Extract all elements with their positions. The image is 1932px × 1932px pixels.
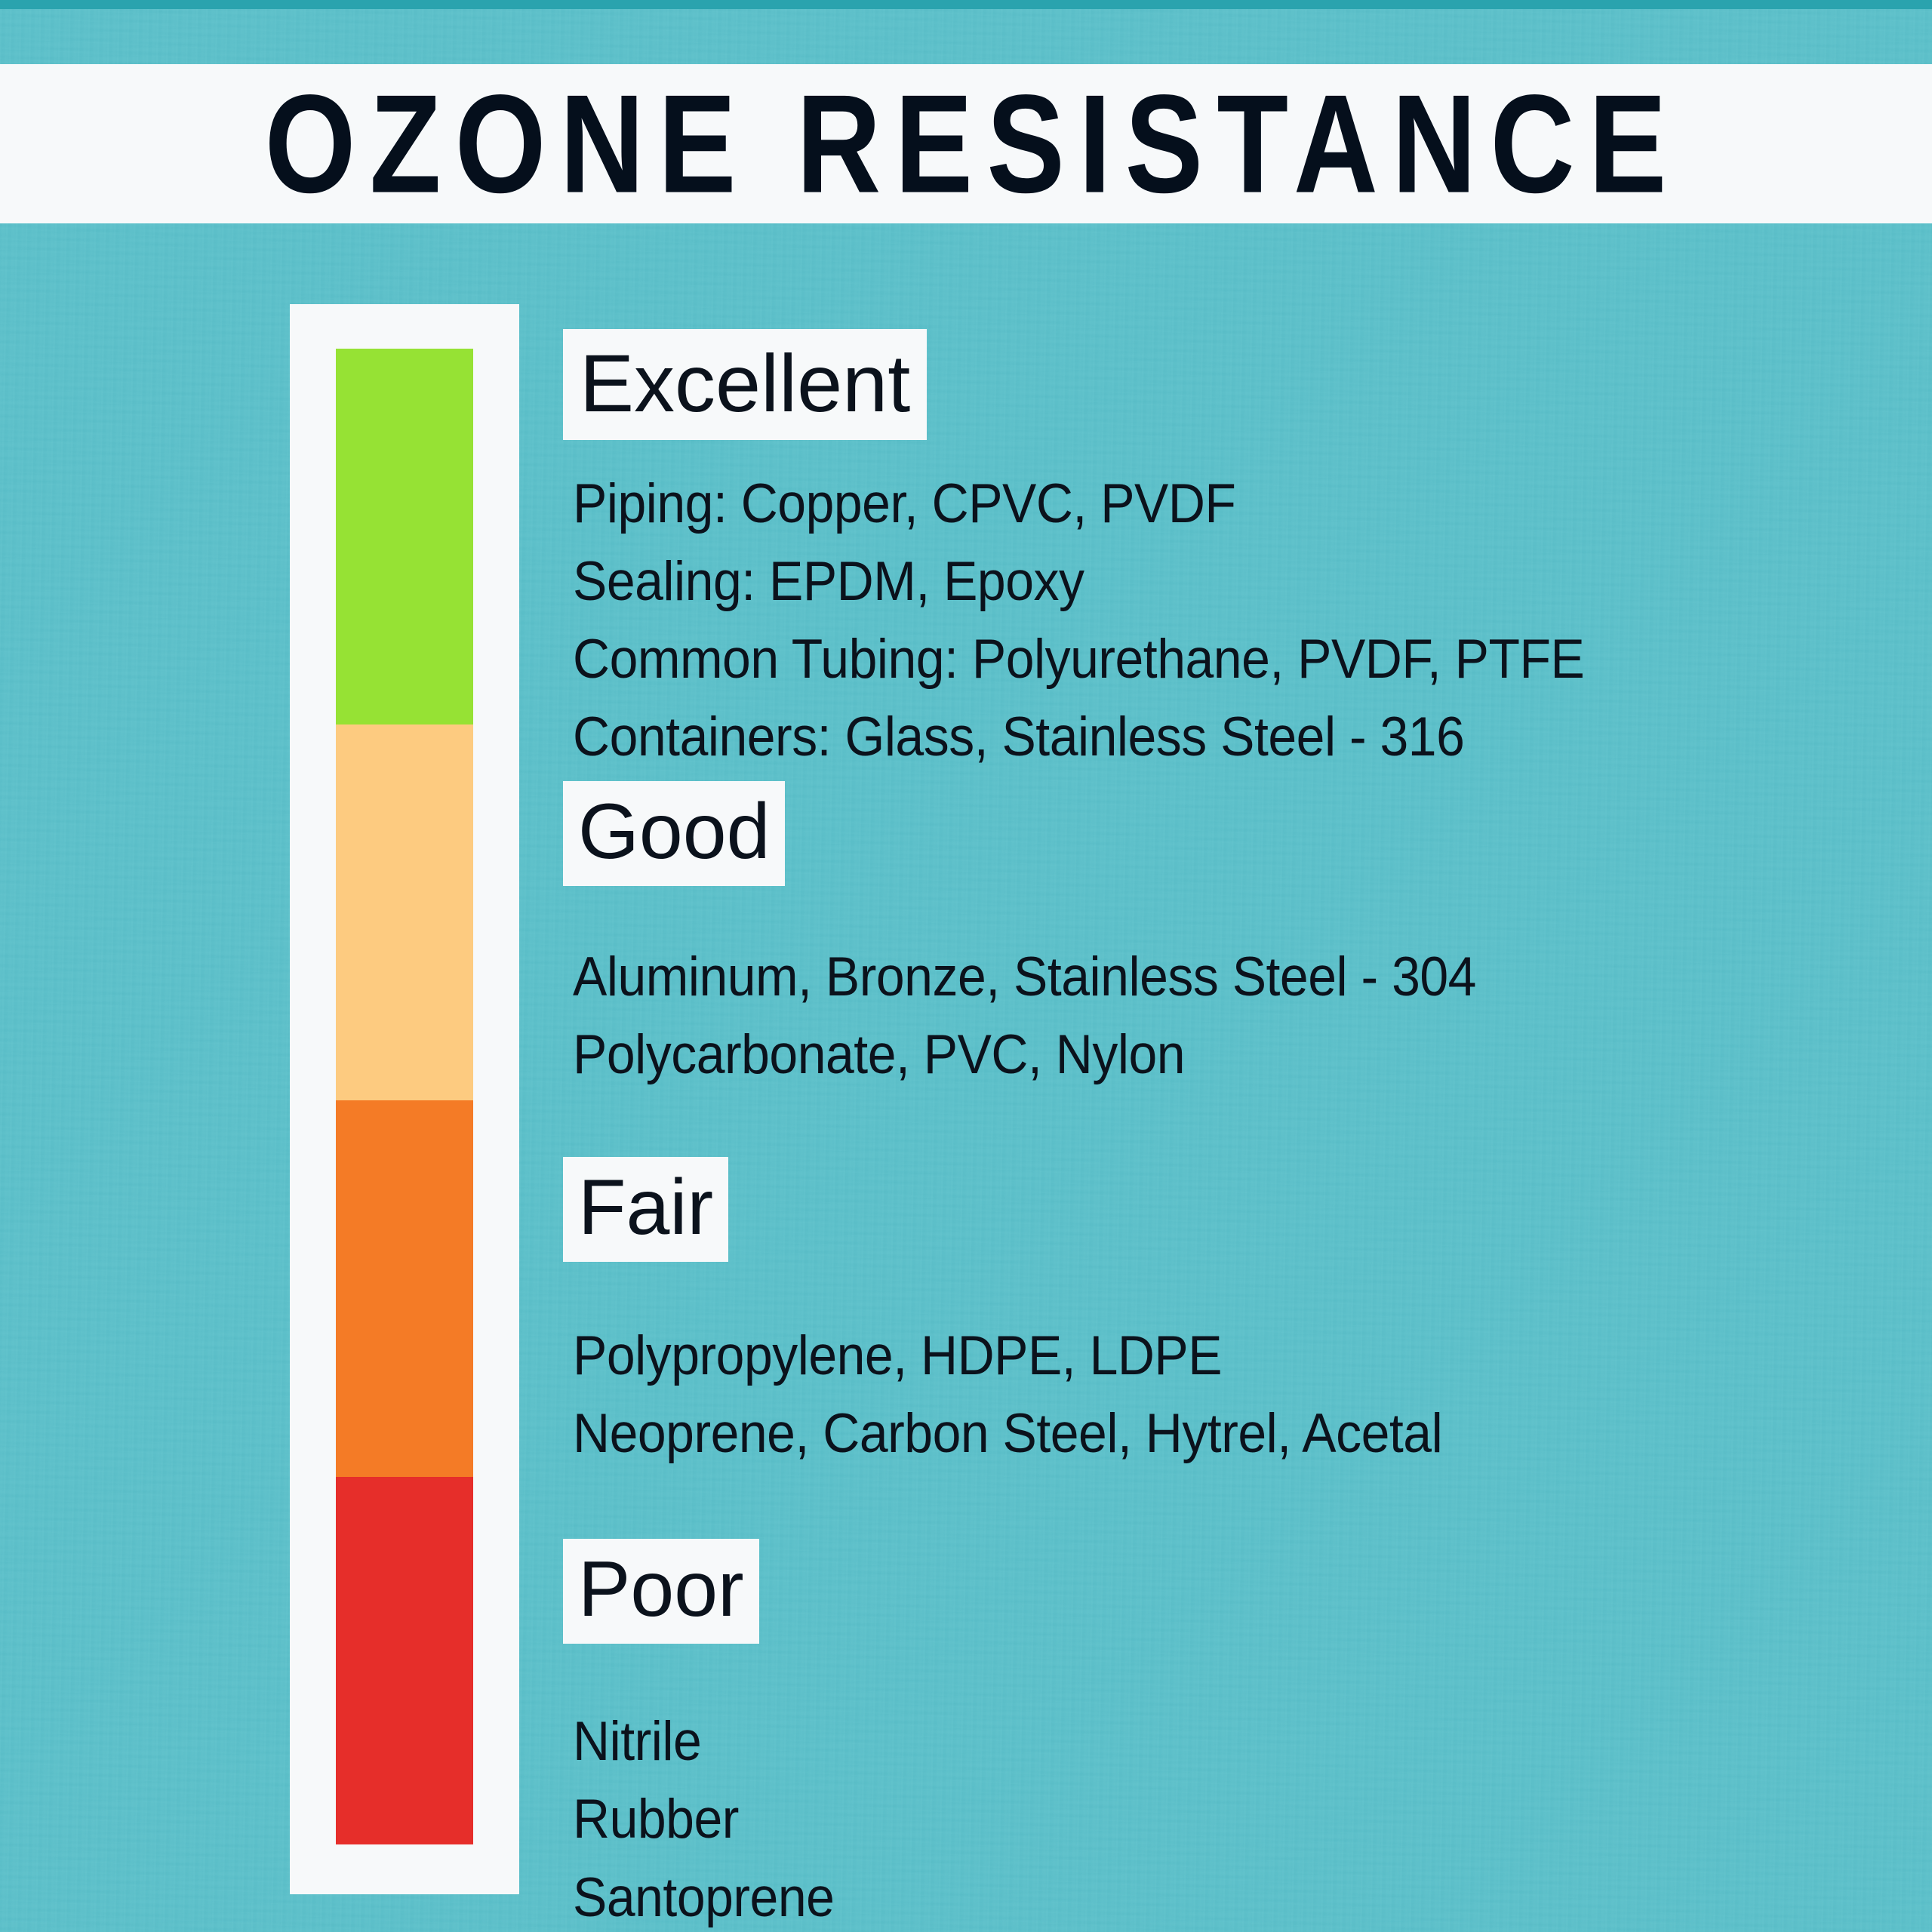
heading-wrap-good: Good [563, 781, 1846, 886]
section-body-excellent: Piping: Copper, CPVC, PVDF Sealing: EPDM… [563, 466, 1756, 777]
heading-wrap-fair: Fair [563, 1157, 1846, 1262]
ozone-resistance-poster: OZONE RESISTANCE Excellent Piping: Coppe… [0, 0, 1932, 1932]
section-body-good: Aluminum, Bronze, Stainless Steel - 304 … [563, 939, 1756, 1094]
legend-section-good: Good Aluminum, Bronze, Stainless Steel -… [563, 781, 1846, 1094]
scale-segment-excellent [336, 349, 473, 724]
section-heading-fair: Fair [563, 1157, 728, 1262]
page-title: OZONE RESISTANCE [251, 74, 1681, 214]
section-heading-good: Good [563, 781, 785, 886]
heading-wrap-poor: Poor [563, 1539, 1846, 1644]
title-band: OZONE RESISTANCE [0, 64, 1932, 223]
scale-segment-good [336, 724, 473, 1100]
section-body-fair: Polypropylene, HDPE, LDPE Neoprene, Carb… [563, 1318, 1756, 1473]
section-heading-poor: Poor [563, 1539, 759, 1644]
legend-section-poor: Poor Nitrile Rubber Santoprene [563, 1539, 1846, 1932]
section-heading-excellent: Excellent [563, 329, 927, 440]
color-scale-card [290, 304, 519, 1894]
scale-segment-poor [336, 1477, 473, 1844]
scale-segment-fair [336, 1100, 473, 1477]
legend-section-excellent: Excellent Piping: Copper, CPVC, PVDF Sea… [563, 329, 1846, 777]
section-body-poor: Nitrile Rubber Santoprene [563, 1703, 1756, 1932]
heading-wrap-excellent: Excellent [563, 329, 1846, 440]
color-scale-bar [336, 349, 473, 1844]
legend-section-fair: Fair Polypropylene, HDPE, LDPE Neoprene,… [563, 1157, 1846, 1473]
